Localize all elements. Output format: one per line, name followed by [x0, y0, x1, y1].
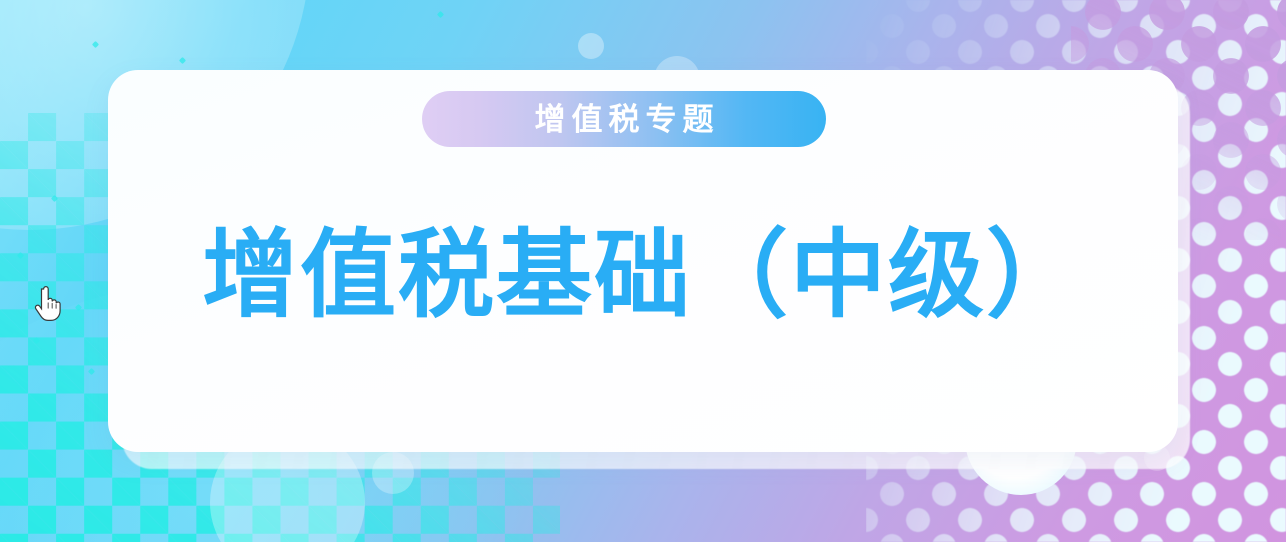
sparkle-dot — [88, 368, 95, 375]
page-title: 增值税基础（中级） — [108, 222, 1178, 330]
pointer-hand-cursor — [31, 286, 61, 322]
banner-stage: 增值税专题 增值税基础（中级） — [0, 0, 1286, 542]
sparkle-dot — [92, 41, 99, 48]
sparkle-dot — [179, 57, 186, 64]
topic-badge[interactable]: 增值税专题 — [422, 91, 826, 147]
pale-circle-top — [578, 33, 604, 59]
sparkle-dot — [51, 195, 58, 202]
sparkle-dot — [33, 337, 40, 344]
sparkle-dot — [17, 252, 24, 259]
sparkle-dot — [75, 304, 82, 311]
sparkle-dot — [437, 11, 444, 18]
topic-badge-label: 增值税专题 — [529, 104, 720, 135]
